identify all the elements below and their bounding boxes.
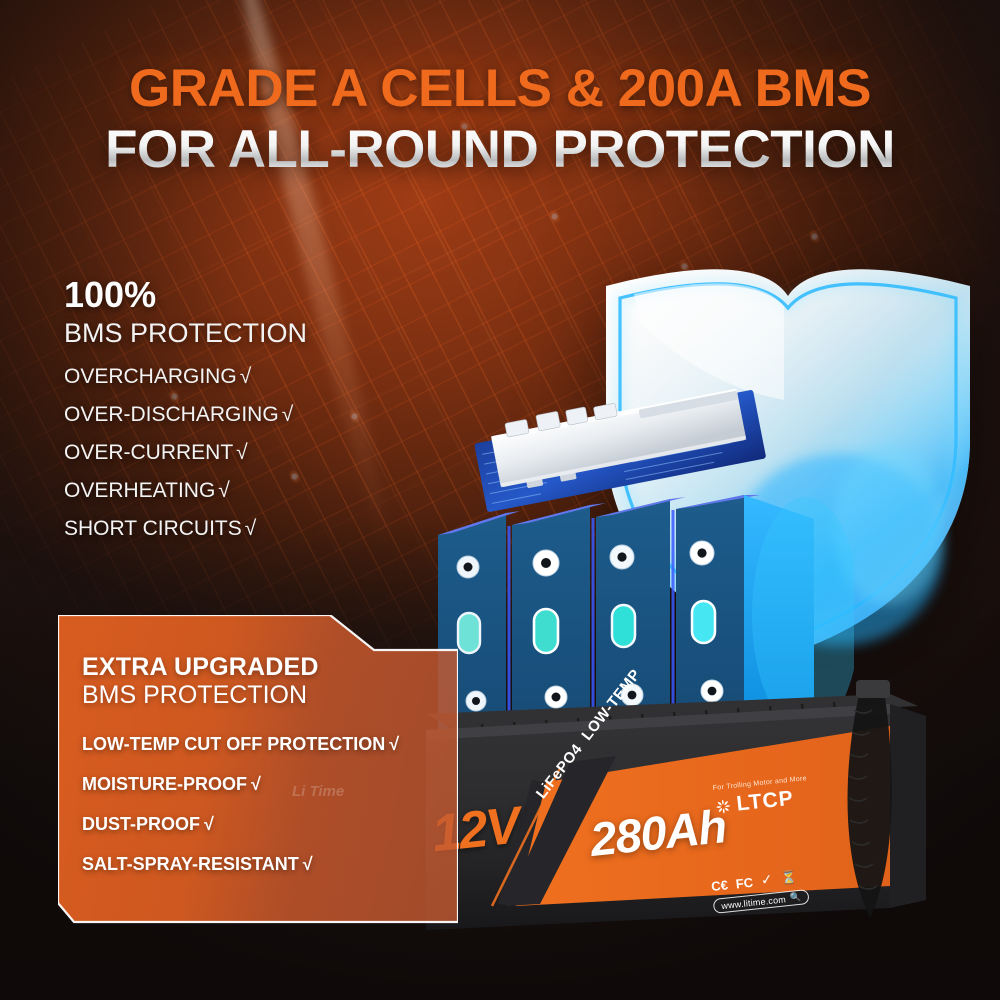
callout-feature-item: DUST-PROOF√ [82,815,458,833]
bms-feature-label: OVERCHARGING [64,365,237,388]
bms-feature-label: OVER-DISCHARGING [64,403,279,426]
bms-feature-label: OVER-CURRENT [64,441,233,464]
bms-feature-item: OVER-CURRENT√ [64,442,404,463]
check-icon: √ [204,814,214,834]
check-icon: √ [240,365,252,388]
bms-feature-item: OVERCHARGING√ [64,366,404,387]
bms-feature-label: SHORT CIRCUITS [64,517,242,540]
bms-feature-item: OVERHEATING√ [64,480,404,501]
callout-feature-item: MOISTURE-PROOF√ [82,775,458,793]
callout-feature-list: LOW-TEMP CUT OFF PROTECTION√ MOISTURE-PR… [82,735,458,873]
bms-feature-item: OVER-DISCHARGING√ [64,404,404,425]
bms-protection-block: 100% BMS PROTECTION OVERCHARGING√ OVER-D… [64,277,404,556]
headline-line-2: FOR ALL-ROUND PROTECTION [0,123,1000,178]
bms-percent: 100% [64,277,404,313]
cert-rohs-icon: ✓ [760,871,773,889]
ltcp-logo-icon [714,797,733,816]
extra-upgraded-callout: Li Time EXTRA UPGRADED BMS PROTECTION LO… [58,615,458,935]
cert-fc: FC [735,875,754,892]
headline-line-1: GRADE A CELLS & 200A BMS [0,62,1000,117]
rope-handle [840,680,920,940]
bms-subtitle: BMS PROTECTION [64,319,404,349]
check-icon: √ [282,403,294,426]
callout-feature-label: DUST-PROOF [82,814,200,834]
check-icon: √ [389,734,399,754]
callout-feature-item: LOW-TEMP CUT OFF PROTECTION√ [82,735,458,753]
callout-feature-label: LOW-TEMP CUT OFF PROTECTION [82,734,385,754]
bms-feature-list: OVERCHARGING√ OVER-DISCHARGING√ OVER-CUR… [64,366,404,539]
callout-title-1: EXTRA UPGRADED [82,653,458,681]
search-icon: 🔍 [789,892,801,904]
product-marketing-image: 12V LiFePO4 LOW-TEMP 280Ah For Trolling … [0,0,1000,1000]
callout-feature-item: SALT-SPRAY-RESISTANT√ [82,855,458,873]
bms-feature-item: SHORT CIRCUITS√ [64,518,404,539]
check-icon: √ [245,517,257,540]
headline-block: GRADE A CELLS & 200A BMS FOR ALL-ROUND P… [0,62,1000,177]
callout-feature-label: SALT-SPRAY-RESISTANT [82,854,299,874]
bms-feature-label: OVERHEATING [64,479,215,502]
callout-feature-label: MOISTURE-PROOF [82,774,247,794]
cert-weee-icon: ⏳ [780,869,798,887]
callout-title-2: BMS PROTECTION [82,681,458,709]
callout-content: EXTRA UPGRADED BMS PROTECTION LOW-TEMP C… [58,615,458,873]
cert-ce: C€ [711,877,729,894]
check-icon: √ [236,441,248,464]
check-icon: √ [218,479,230,502]
check-icon: √ [303,854,313,874]
check-icon: √ [251,774,261,794]
